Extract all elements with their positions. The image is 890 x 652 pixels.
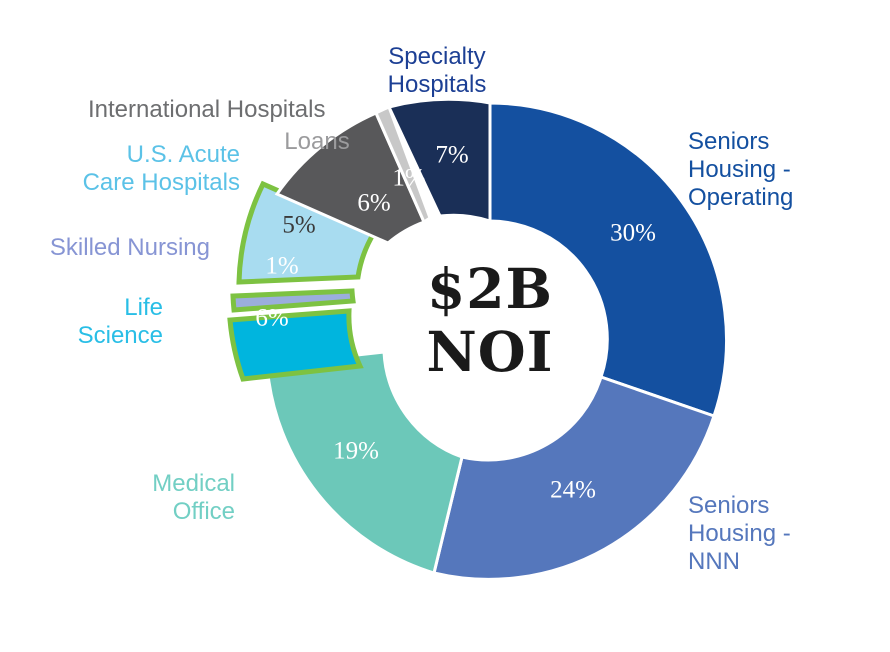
data-label-skilled-nursing: 1%	[265, 253, 298, 280]
data-label-medical-office: 19%	[333, 438, 379, 465]
data-label-international-hospitals: 6%	[357, 190, 390, 217]
data-label-seniors-housing-operating: 30%	[610, 220, 656, 247]
data-label-life-science: 6%	[255, 305, 288, 332]
category-label-us-acute-care-hospitals: U.S. Acute Care Hospitals	[30, 141, 240, 197]
donut-chart: 30% 24% 19% 6% 1% 5% 6% 1% 7% $2B NOI Sp…	[0, 0, 890, 652]
slice-life-science[interactable]	[230, 311, 360, 379]
data-label-seniors-housing-nnn: 24%	[550, 477, 596, 504]
data-label-specialty-hospitals: 7%	[435, 142, 468, 169]
category-label-life-science: Life Science	[18, 294, 163, 350]
data-label-loans: 1%	[392, 165, 425, 192]
category-label-specialty-hospitals: Specialty Hospitals	[362, 43, 512, 99]
category-label-skilled-nursing: Skilled Nursing	[10, 234, 210, 262]
slice-skilled-nursing[interactable]	[233, 291, 353, 310]
category-label-seniors-housing-nnn: Seniors Housing - NNN	[688, 492, 883, 576]
category-label-international-hospitals: International Hospitals	[88, 96, 378, 124]
category-label-seniors-housing-operating: Seniors Housing - Operating	[688, 128, 883, 212]
donut-slices	[230, 99, 727, 579]
data-label-us-acute-care-hospitals: 5%	[282, 212, 315, 239]
category-label-loans: Loans	[262, 128, 372, 156]
category-label-medical-office: Medical Office	[60, 470, 235, 526]
